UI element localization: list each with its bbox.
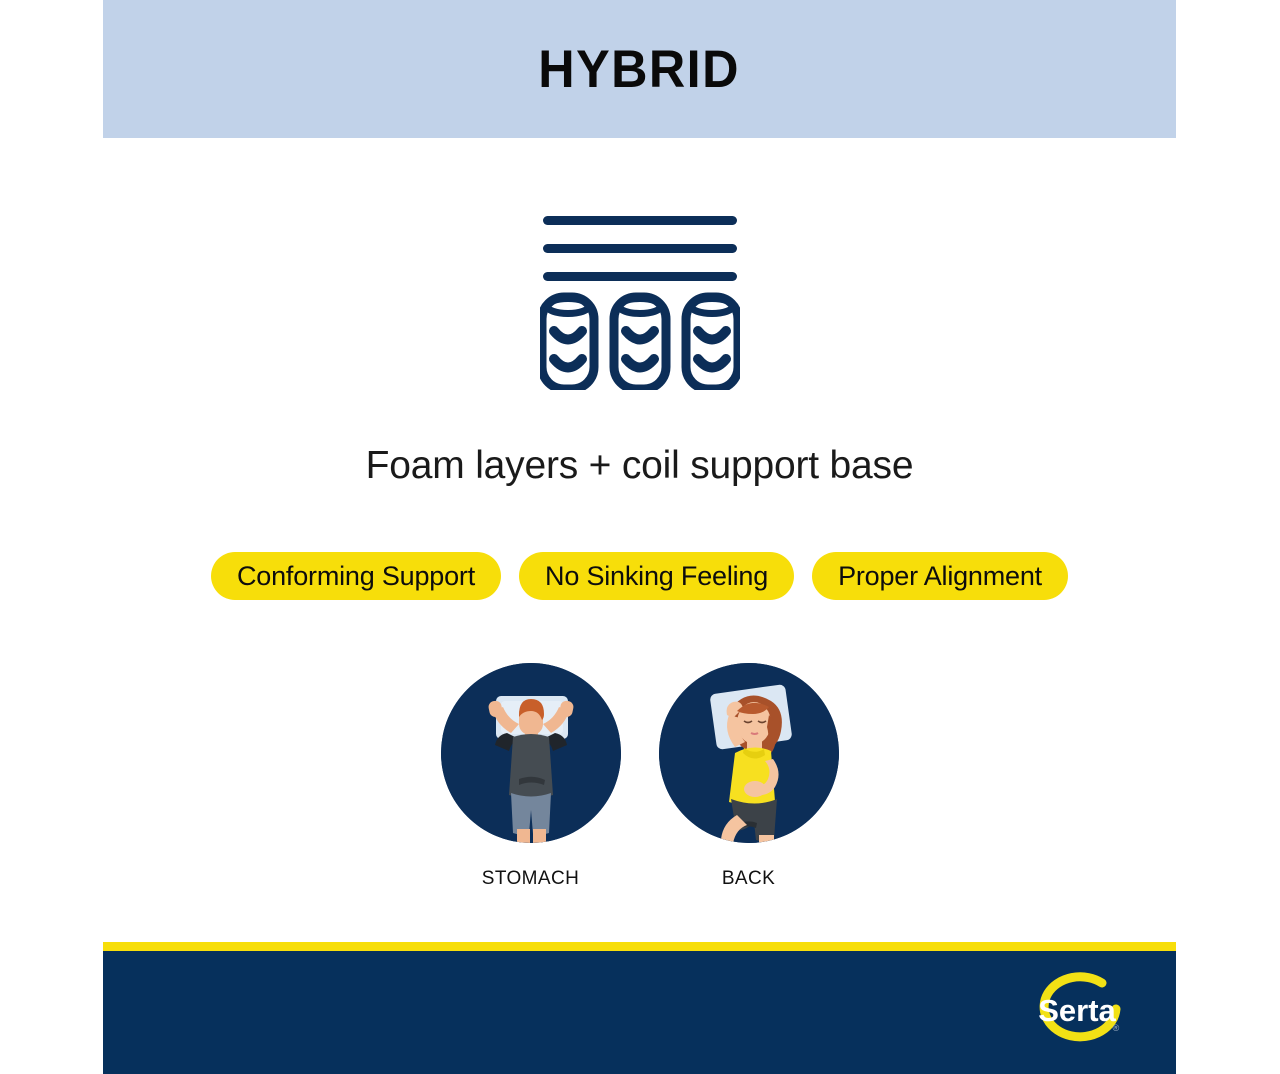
sleep-position-stomach[interactable]: STOMACH bbox=[441, 663, 621, 890]
registered-trademark-icon: ® bbox=[1113, 1023, 1120, 1033]
foam-layer-bar-3 bbox=[543, 272, 737, 281]
feature-pill-label: Proper Alignment bbox=[838, 561, 1042, 592]
icon-section bbox=[103, 200, 1176, 390]
footer-bar: Serta ® bbox=[103, 951, 1176, 1074]
sleep-position-back[interactable]: BACK bbox=[659, 663, 839, 890]
subtitle-text: Foam layers + coil support base bbox=[103, 443, 1176, 490]
coil-2 bbox=[614, 297, 666, 389]
serta-logo[interactable]: Serta ® bbox=[1032, 969, 1128, 1055]
sleep-position-label: BACK bbox=[722, 868, 775, 890]
coil-3 bbox=[686, 297, 738, 389]
stomach-sleeper-illustration bbox=[441, 663, 621, 843]
infographic-page: HYBRID bbox=[0, 0, 1280, 1074]
serta-logo-mark: Serta ® bbox=[1032, 969, 1128, 1055]
stomach-sleeper-circle bbox=[441, 663, 621, 843]
page-title: HYBRID bbox=[539, 43, 741, 96]
content-card: HYBRID bbox=[103, 0, 1176, 1074]
feature-pill-list: Conforming Support No Sinking Feeling Pr… bbox=[103, 552, 1176, 600]
feature-pill-label: Conforming Support bbox=[237, 561, 475, 592]
header-banner: HYBRID bbox=[103, 0, 1176, 138]
coil-group bbox=[542, 297, 738, 389]
foam-layers-coils-icon bbox=[540, 200, 740, 390]
feature-pill-proper-alignment[interactable]: Proper Alignment bbox=[812, 552, 1068, 600]
feature-pill-label: No Sinking Feeling bbox=[545, 561, 768, 592]
sleep-position-list: STOMACH bbox=[103, 663, 1176, 890]
serta-wordmark: Serta bbox=[1038, 993, 1116, 1028]
back-sleeper-circle bbox=[659, 663, 839, 843]
coil-1 bbox=[542, 297, 594, 389]
foam-layer-bar-2 bbox=[543, 244, 737, 253]
footer-accent-rule bbox=[103, 942, 1176, 951]
sleep-position-label: STOMACH bbox=[482, 868, 579, 890]
foam-layer-bar-1 bbox=[543, 216, 737, 225]
back-sleeper-illustration bbox=[659, 663, 839, 843]
feature-pill-conforming-support[interactable]: Conforming Support bbox=[211, 552, 501, 600]
feature-pill-no-sinking-feeling[interactable]: No Sinking Feeling bbox=[519, 552, 794, 600]
